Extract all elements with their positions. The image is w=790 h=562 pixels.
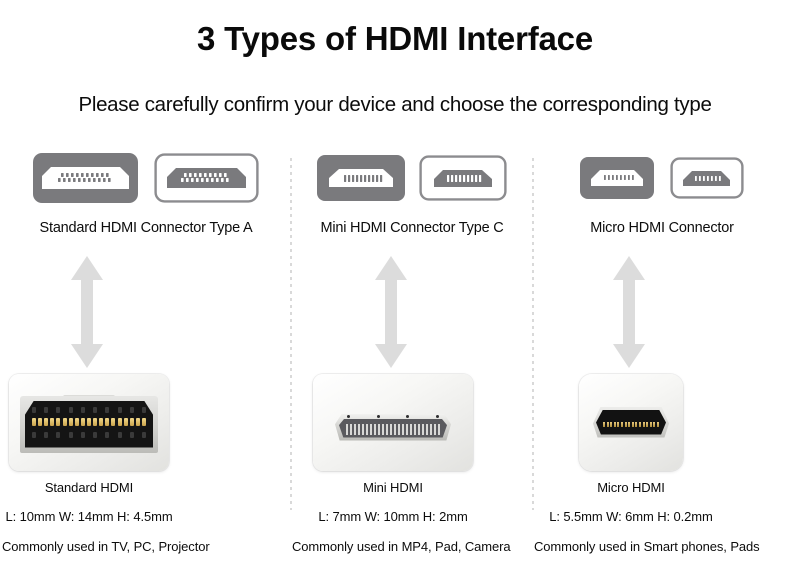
standard-hdmi-icon-filled [33, 153, 138, 203]
column-micro-hdmi: Micro HDMI Connector Micro HDMI L: 5.5mm… [534, 150, 790, 560]
micro-hdmi-arrow-wrap [534, 254, 790, 370]
standard-hdmi-icon-outline [154, 153, 259, 203]
standard-hdmi-caption: Standard HDMI L: 10mm W: 14mm H: 4.5mm C… [2, 480, 290, 554]
standard-hdmi-icon-row [2, 150, 290, 206]
caption-usage: Commonly used in MP4, Pad, Camera [292, 539, 494, 554]
caption-name: Micro HDMI [534, 480, 728, 495]
standard-hdmi-connector-label: Standard HDMI Connector Type A [2, 220, 290, 236]
double-headed-vertical-arrow [373, 254, 409, 370]
caption-dimensions: L: 5.5mm W: 6mm H: 0.2mm [534, 509, 728, 524]
caption-usage: Commonly used in TV, PC, Projector [2, 539, 176, 554]
mini-hdmi-connector-label: Mini HDMI Connector Type C [292, 220, 532, 236]
mini-hdmi-icon-filled [317, 155, 405, 201]
micro-hdmi-plug-photo [579, 374, 683, 471]
mini-hdmi-plug-photo [313, 374, 473, 471]
mini-hdmi-caption: Mini HDMI L: 7mm W: 10mm H: 2mm Commonly… [292, 480, 532, 554]
standard-hdmi-plug-photo [9, 374, 169, 471]
mini-hdmi-photo-wrap [292, 370, 532, 474]
page-title: 3 Types of HDMI Interface [0, 20, 790, 58]
caption-dimensions: L: 10mm W: 14mm H: 4.5mm [2, 509, 176, 524]
page-subtitle: Please carefully confirm your device and… [0, 93, 790, 117]
micro-hdmi-icon-row [534, 150, 790, 206]
caption-usage: Commonly used in Smart phones, Pads [534, 539, 728, 554]
micro-hdmi-icon-outline [670, 157, 744, 199]
caption-dimensions: L: 7mm W: 10mm H: 2mm [292, 509, 494, 524]
double-headed-vertical-arrow [69, 254, 105, 370]
mini-hdmi-icon-row [292, 150, 532, 206]
micro-hdmi-icon-filled [580, 157, 654, 199]
caption-name: Standard HDMI [2, 480, 176, 495]
standard-hdmi-arrow-wrap [2, 254, 290, 370]
standard-hdmi-photo-wrap [2, 370, 290, 474]
double-headed-vertical-arrow [611, 254, 647, 370]
infographic-root: 3 Types of HDMI Interface Please careful… [0, 0, 790, 562]
mini-hdmi-arrow-wrap [292, 254, 532, 370]
column-standard-hdmi: Standard HDMI Connector Type A [2, 150, 290, 560]
column-mini-hdmi: Mini HDMI Connector Type C [292, 150, 532, 560]
micro-hdmi-photo-wrap [534, 370, 790, 474]
mini-hdmi-icon-outline [419, 155, 507, 201]
caption-name: Mini HDMI [292, 480, 494, 495]
micro-hdmi-caption: Micro HDMI L: 5.5mm W: 6mm H: 0.2mm Comm… [534, 480, 790, 554]
micro-hdmi-connector-label: Micro HDMI Connector [534, 220, 790, 236]
